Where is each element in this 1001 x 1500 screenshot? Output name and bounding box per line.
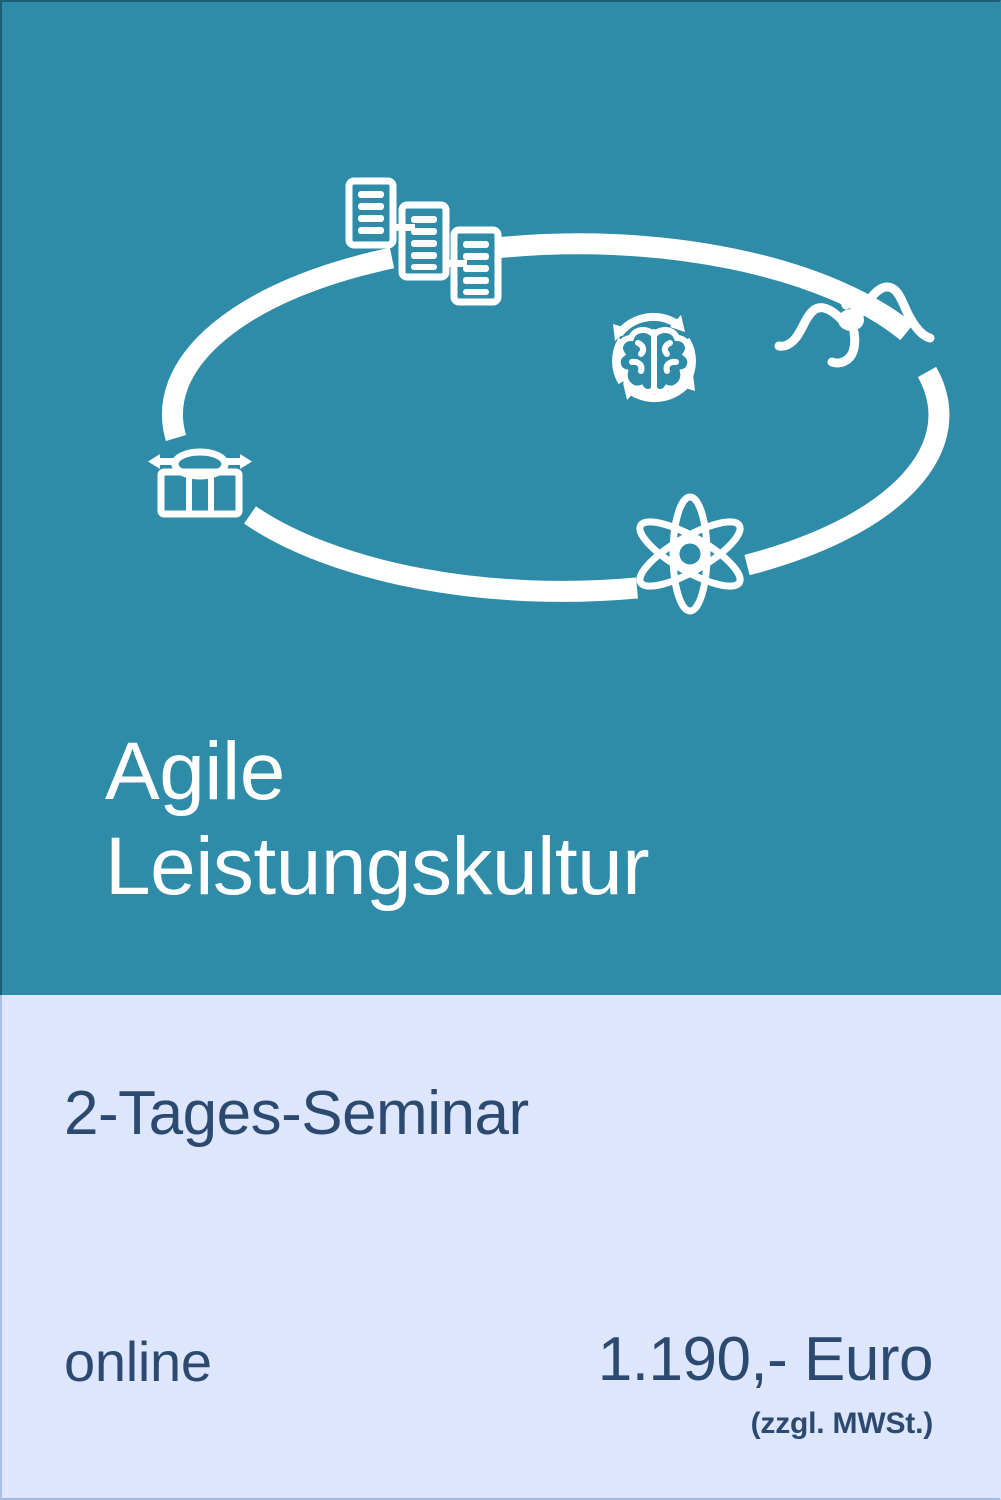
cycle-ring xyxy=(172,244,939,592)
org-chart-icon xyxy=(349,181,498,302)
brain-cycle-icon xyxy=(613,315,695,400)
agile-cycle-graphic xyxy=(2,2,1001,702)
info-panel: 2-Tages-Seminar online 1.190,- Euro (zzg… xyxy=(0,995,1001,1500)
neuron-icon xyxy=(779,287,930,363)
scaling-box-icon xyxy=(148,452,252,514)
delivery-mode-label: online xyxy=(64,1334,212,1390)
seminar-format-label: 2-Tages-Seminar xyxy=(64,1083,529,1145)
hero-panel: Agile Leistungskultur xyxy=(0,0,1001,995)
atom-icon xyxy=(632,497,748,611)
arrow-right-icon xyxy=(225,454,252,469)
neuron-soma xyxy=(838,309,864,331)
page-title: Agile Leistungskultur xyxy=(105,724,935,914)
arrow-left-icon xyxy=(148,454,175,469)
price-value: 1.190,- Euro xyxy=(598,1329,933,1391)
seminar-card: Agile Leistungskultur 2-Tages-Seminar on… xyxy=(0,0,1001,1500)
vat-note: (zzgl. MWSt.) xyxy=(598,1409,933,1439)
price-block: 1.190,- Euro (zzgl. MWSt.) xyxy=(598,1329,933,1439)
